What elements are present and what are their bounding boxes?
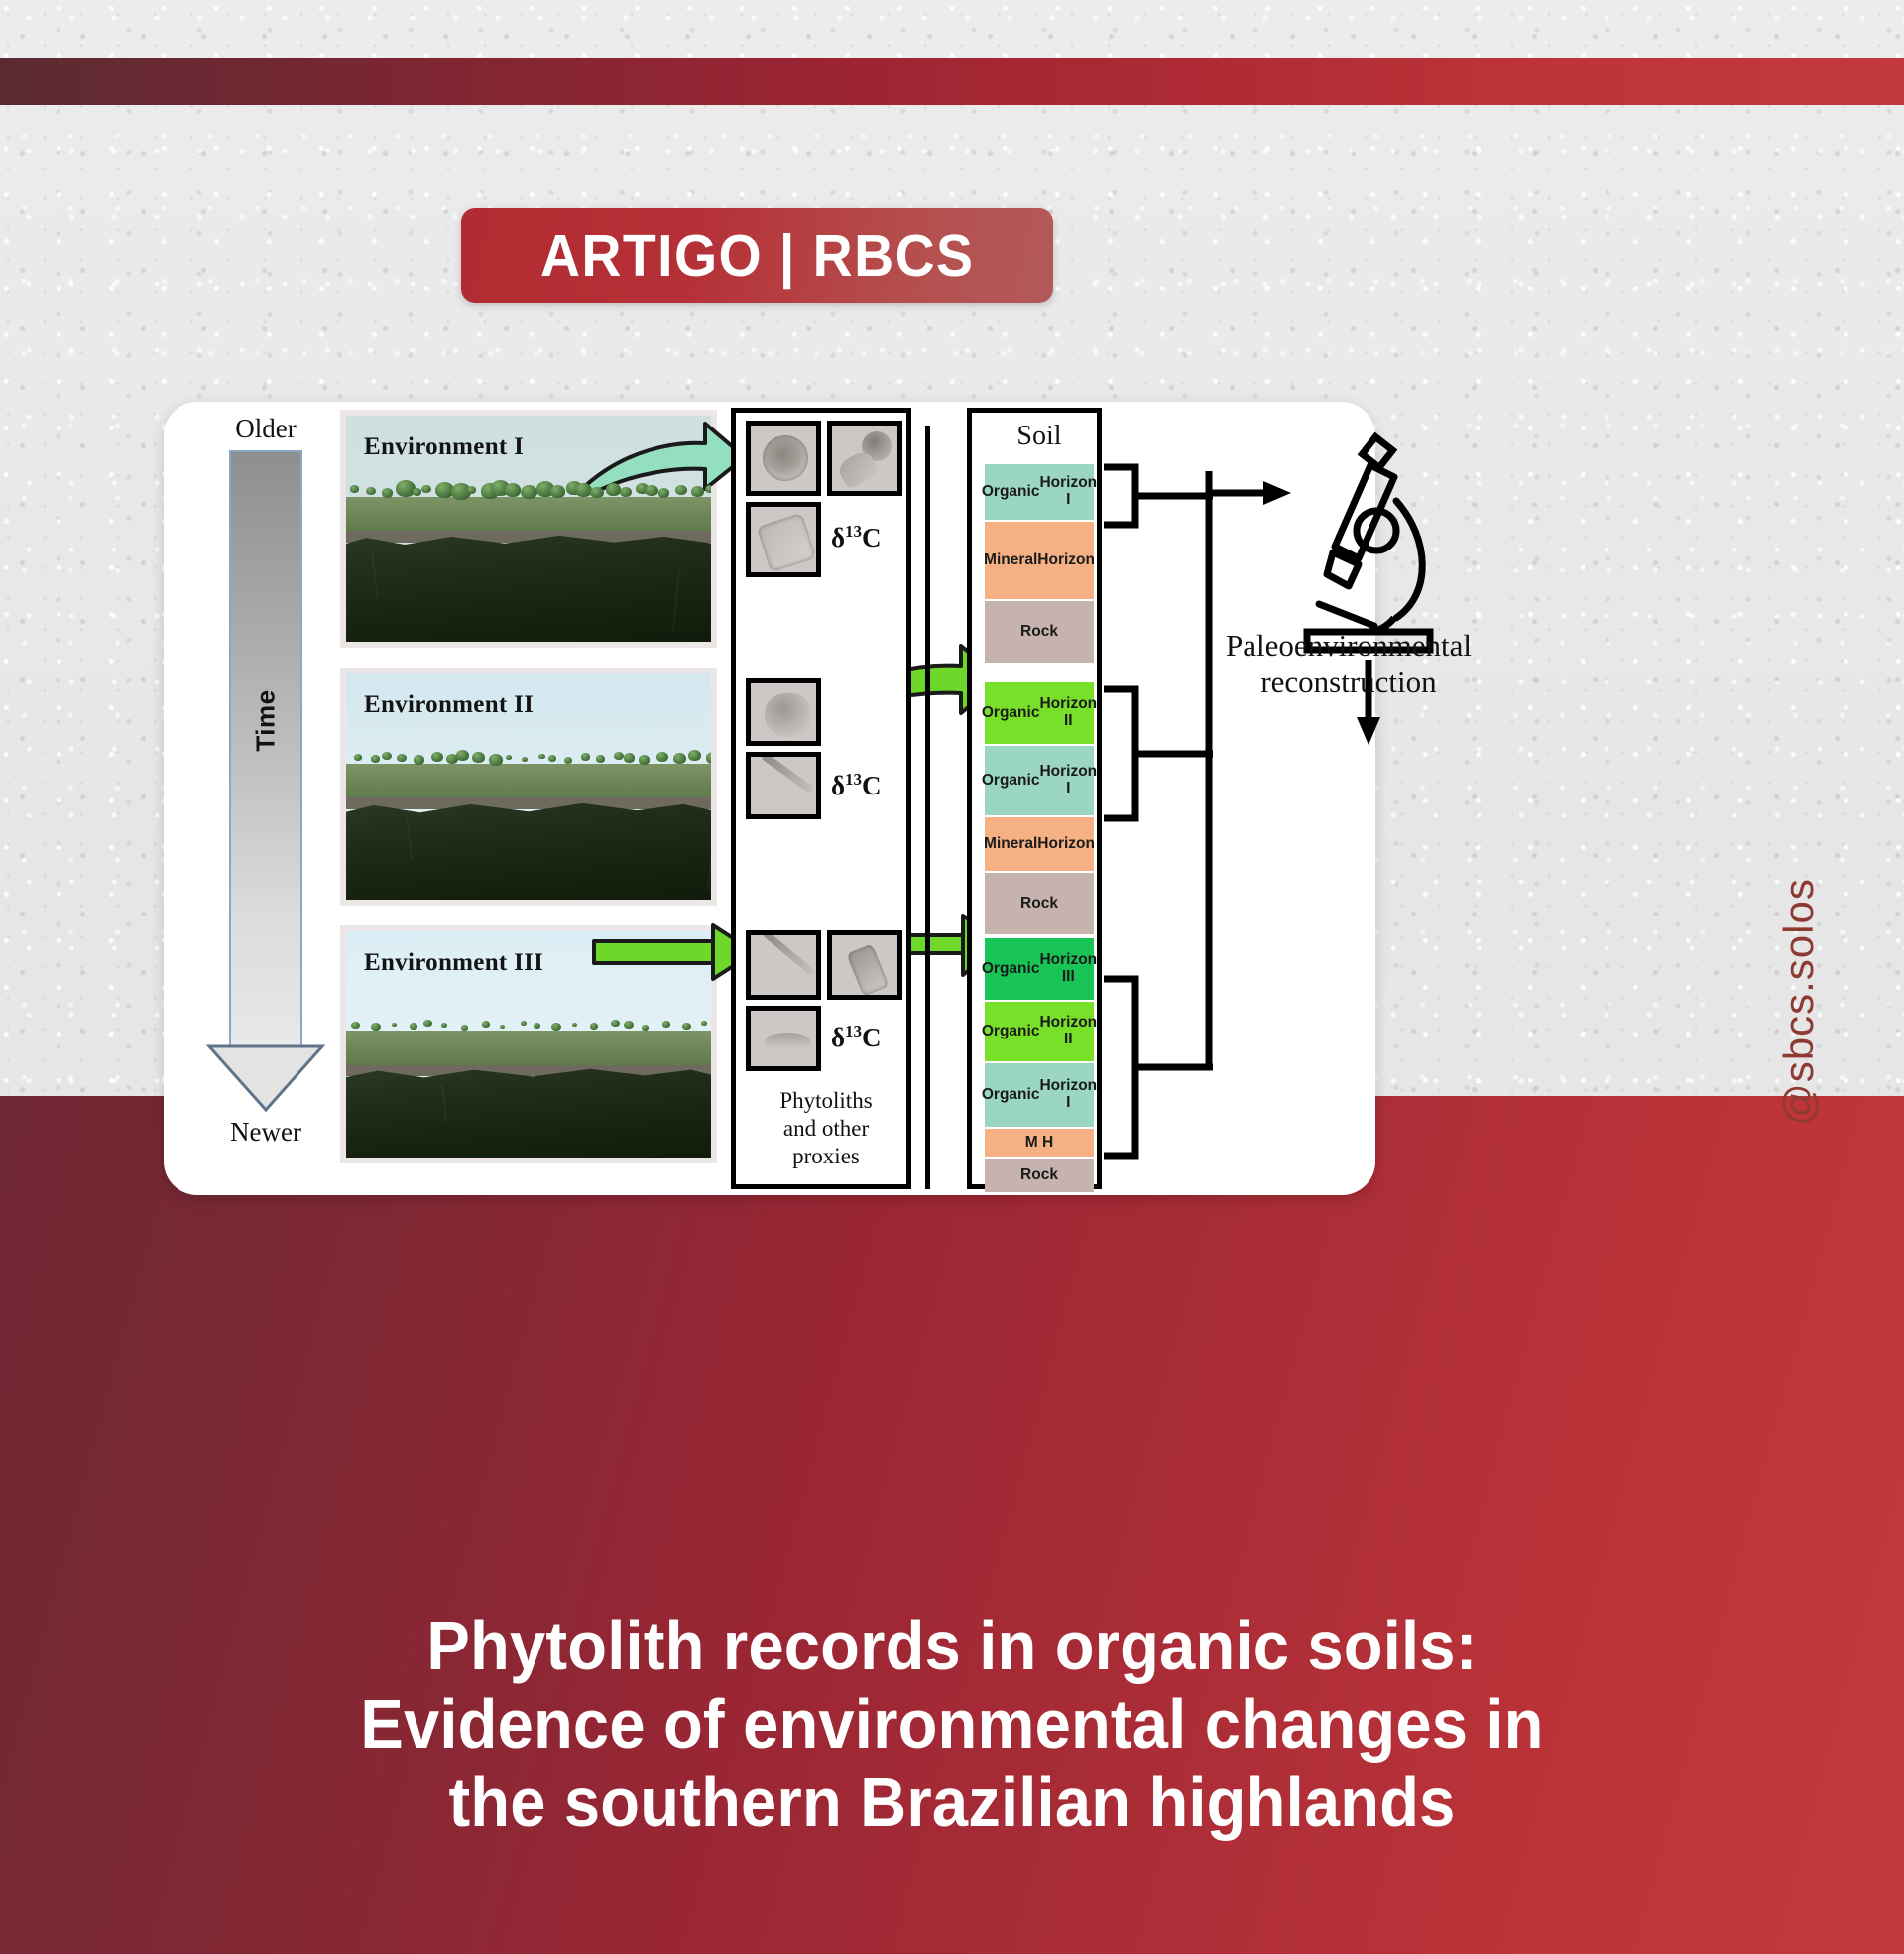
paleoenvironmental-reconstruction-label: Paleoenvironmental reconstruction xyxy=(1165,628,1532,700)
phytolith-image-7 xyxy=(827,930,902,1000)
phytolith-image-5 xyxy=(746,752,821,819)
vegetation-shrub xyxy=(371,755,380,763)
time-arrow-head-icon xyxy=(205,1044,326,1112)
grass-strip xyxy=(340,764,717,799)
newer-label: Newer xyxy=(191,1117,340,1148)
article-badge: ARTIGO | RBCS xyxy=(461,208,1053,303)
soil-horizon: OrganicHorizon III xyxy=(985,938,1094,1000)
vegetation-shrub xyxy=(611,1020,620,1028)
valley-ridge xyxy=(407,819,414,861)
isotope-label-1: δ13C xyxy=(831,522,882,553)
vegetation-shrub xyxy=(472,752,485,763)
vegetation-shrub xyxy=(701,1021,707,1026)
soil-horizon-label-line: Horizon I xyxy=(1039,764,1097,796)
vegetation-shrub xyxy=(413,488,421,496)
soil-horizon-label-line: Horizon xyxy=(1037,836,1095,853)
soil-horizon-label-line: Organic xyxy=(982,705,1040,722)
vegetation-shrub xyxy=(639,755,650,764)
article-title-line-3: the southern Brazilian highlands xyxy=(66,1764,1838,1842)
vegetation-shrub xyxy=(548,755,556,762)
valley-body xyxy=(340,1067,717,1162)
older-label: Older xyxy=(191,414,340,444)
vegetation-shrub xyxy=(461,1025,468,1031)
soil-column-box: Soil OrganicHorizon IMineralHorizonRockO… xyxy=(967,408,1102,1189)
vegetation-shrub xyxy=(350,485,359,493)
phytolith-image-8 xyxy=(746,1006,821,1071)
vegetation-shrub xyxy=(482,1021,490,1028)
environment-title-3: Environment III xyxy=(364,949,543,977)
soil-horizon-label-line: Horizon II xyxy=(1039,1015,1097,1047)
proxies-caption-line-3: proxies xyxy=(736,1143,916,1170)
vegetation-shrub xyxy=(421,485,431,494)
vegetation-shrub xyxy=(392,1023,397,1027)
soil-horizon: Rock xyxy=(985,601,1094,663)
valley-body xyxy=(340,800,717,905)
isotope-label-2: δ13C xyxy=(831,770,882,801)
article-title-line-1: Phytolith records in organic soils: xyxy=(66,1607,1838,1685)
vegetation-shrub xyxy=(564,757,572,764)
article-title: Phytolith records in organic soils: Evid… xyxy=(0,1607,1904,1842)
phytolith-image-6 xyxy=(746,930,821,1000)
soil-horizon-label-line: Horizon III xyxy=(1039,952,1097,985)
vegetation-shrub xyxy=(366,487,376,496)
arrow-environment-1-to-proxies xyxy=(580,416,749,495)
environment-title-2: Environment II xyxy=(364,691,534,719)
soil-horizon: OrganicHorizon II xyxy=(985,1002,1094,1061)
output-line-1: Paleoenvironmental xyxy=(1165,628,1532,665)
soil-title: Soil xyxy=(972,421,1107,452)
soil-horizon-label-line: Organic xyxy=(982,484,1040,501)
time-label: Time xyxy=(251,676,282,766)
figure-card: Older Time Newer Environment I Environme… xyxy=(164,402,1375,1195)
soil-horizon: OrganicHorizon I xyxy=(985,464,1094,520)
social-handle: @sbcs.solos xyxy=(1775,853,1823,1151)
vegetation-shrub xyxy=(354,754,362,761)
vegetation-shrub xyxy=(614,752,624,761)
vegetation-shrub xyxy=(658,488,669,497)
vegetation-shrub xyxy=(521,1021,527,1026)
soil-horizon-label-line: Organic xyxy=(982,1024,1040,1040)
phytolith-image-2 xyxy=(827,421,902,496)
vegetation-shrub xyxy=(606,483,621,496)
proxies-caption: Phytoliths and other proxies xyxy=(736,1087,916,1170)
soil-horizon: Rock xyxy=(985,873,1094,934)
soil-horizon-label-line: M H xyxy=(1025,1135,1053,1152)
soil-horizon: OrganicHorizon I xyxy=(985,746,1094,815)
phytolith-image-4 xyxy=(746,678,821,746)
soil-horizon: MineralHorizon xyxy=(985,522,1094,599)
soil-horizon-label-line: Organic xyxy=(982,1087,1040,1104)
vegetation-shrub xyxy=(673,753,686,764)
proxies-caption-line-1: Phytoliths xyxy=(736,1087,916,1115)
top-red-bar xyxy=(0,58,1904,105)
vegetation-shrub xyxy=(642,1025,649,1031)
vegetation-shrub xyxy=(351,1022,360,1030)
proxies-caption-line-2: and other xyxy=(736,1115,916,1143)
valley-ridge xyxy=(672,569,680,630)
soil-horizon-label-line: Mineral xyxy=(984,552,1037,569)
valley-ridge xyxy=(707,833,715,890)
vegetation-shrub xyxy=(522,757,528,762)
grass-strip xyxy=(340,1031,717,1066)
soil-horizon: Rock xyxy=(985,1159,1094,1192)
vegetation-shrub xyxy=(500,1025,505,1029)
soil-horizon-label-line: Horizon I xyxy=(1039,475,1097,508)
valley-ridge xyxy=(371,553,379,598)
soil-horizon-label-line: Mineral xyxy=(984,836,1037,853)
vegetation-shrub xyxy=(596,755,605,763)
soil-horizon: M H xyxy=(985,1129,1094,1157)
vegetation-shrub xyxy=(572,1023,577,1027)
soil-horizon-label-line: Organic xyxy=(982,773,1040,790)
vegetation-shrub xyxy=(467,486,476,494)
vegetation-shrub xyxy=(620,487,632,497)
vertical-connector-line xyxy=(925,426,930,1189)
soil-horizon-label-line: Horizon I xyxy=(1039,1078,1097,1111)
vegetation-shrub xyxy=(382,488,393,497)
output-line-2: reconstruction xyxy=(1165,665,1532,701)
vegetation-shrub xyxy=(624,753,635,762)
soil-horizon: OrganicHorizon I xyxy=(985,1063,1094,1127)
vegetation-shrub xyxy=(706,752,717,764)
vegetation-shrub xyxy=(534,1023,540,1029)
vegetation-shrub xyxy=(656,752,668,762)
vegetation-shrub xyxy=(521,485,537,499)
vegetation-shrub xyxy=(590,487,604,499)
soil-horizon: OrganicHorizon II xyxy=(985,682,1094,744)
vegetation-shrub xyxy=(691,486,704,497)
phytolith-image-1 xyxy=(746,421,821,496)
valley-ridge xyxy=(441,1084,448,1122)
vegetation-shrub xyxy=(423,1020,432,1028)
microscope-icon xyxy=(1210,424,1507,781)
vegetation-shrub xyxy=(682,1023,691,1031)
soil-horizon-label-line: Rock xyxy=(1020,624,1058,641)
vegetation-shrub xyxy=(410,1023,417,1030)
proxies-box: δ13C δ13C δ13C Phytoliths and other prox… xyxy=(731,408,911,1189)
soil-horizon-label-line: Organic xyxy=(982,961,1040,978)
environment-panel-2: Environment II xyxy=(340,668,717,906)
grouping-brackets xyxy=(1102,402,1221,1195)
isotope-label-3: δ13C xyxy=(831,1022,882,1053)
vegetation-shrub xyxy=(675,485,687,495)
article-badge-label: ARTIGO | RBCS xyxy=(540,222,974,290)
phytolith-image-3 xyxy=(746,502,821,577)
vegetation-shrub xyxy=(414,755,424,764)
time-axis: Older Time Newer xyxy=(191,408,340,1189)
vegetation-shrub xyxy=(550,485,565,498)
vegetation-shrub xyxy=(590,1023,598,1030)
vegetation-shrub xyxy=(431,752,443,762)
vegetation-shrub xyxy=(505,483,521,497)
grass-strip xyxy=(340,497,717,533)
vegetation-shrub xyxy=(662,1021,670,1028)
soil-horizon-label-line: Horizon xyxy=(1037,552,1095,569)
article-title-line-2: Evidence of environmental changes in xyxy=(66,1685,1838,1764)
soil-horizon-label-line: Horizon II xyxy=(1039,696,1097,729)
soil-horizon-label-line: Rock xyxy=(1020,896,1058,913)
vegetation-shrub xyxy=(489,754,503,766)
soil-horizon: MineralHorizon xyxy=(985,817,1094,871)
soil-horizon-label-line: Rock xyxy=(1020,1167,1058,1184)
vegetation-shrub xyxy=(382,752,392,761)
environment-title-1: Environment I xyxy=(364,433,524,461)
valley-body xyxy=(340,534,717,647)
vegetation-shrub xyxy=(581,753,590,761)
